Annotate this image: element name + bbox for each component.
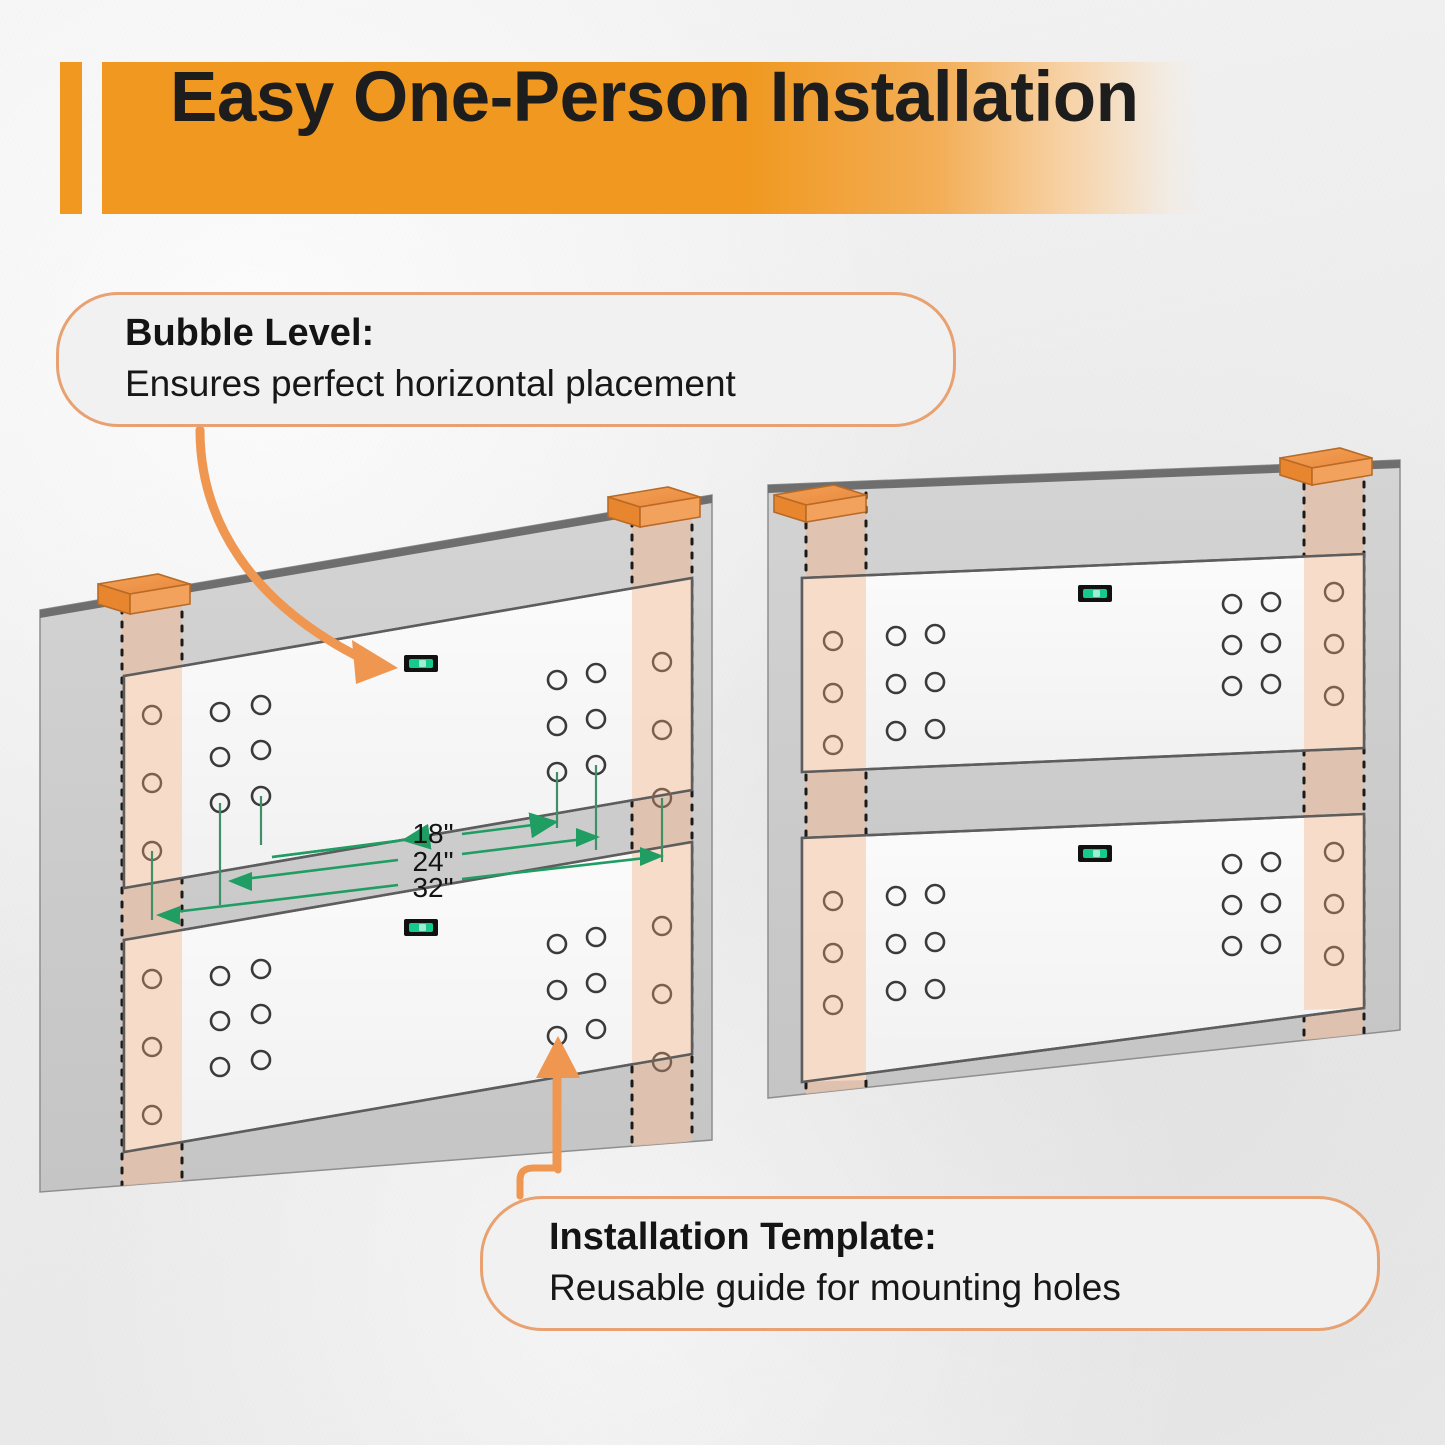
callout-installation-template[interactable]: Installation Template: Reusable guide fo…	[480, 1196, 1380, 1331]
infographic-page: Easy One-Person Installation	[0, 0, 1445, 1445]
callout-bubble-level-description: Ensures perfect horizontal placement	[59, 354, 953, 404]
callout-bubble-level[interactable]: Bubble Level: Ensures perfect horizontal…	[56, 292, 956, 427]
callout-installation-template-title: Installation Template:	[483, 1218, 1377, 1258]
header-accent-bar	[60, 62, 82, 214]
page-title: Easy One-Person Installation	[170, 62, 1230, 133]
callout-installation-template-description: Reusable guide for mounting holes	[483, 1258, 1377, 1308]
callout-bubble-level-title: Bubble Level:	[59, 314, 953, 354]
